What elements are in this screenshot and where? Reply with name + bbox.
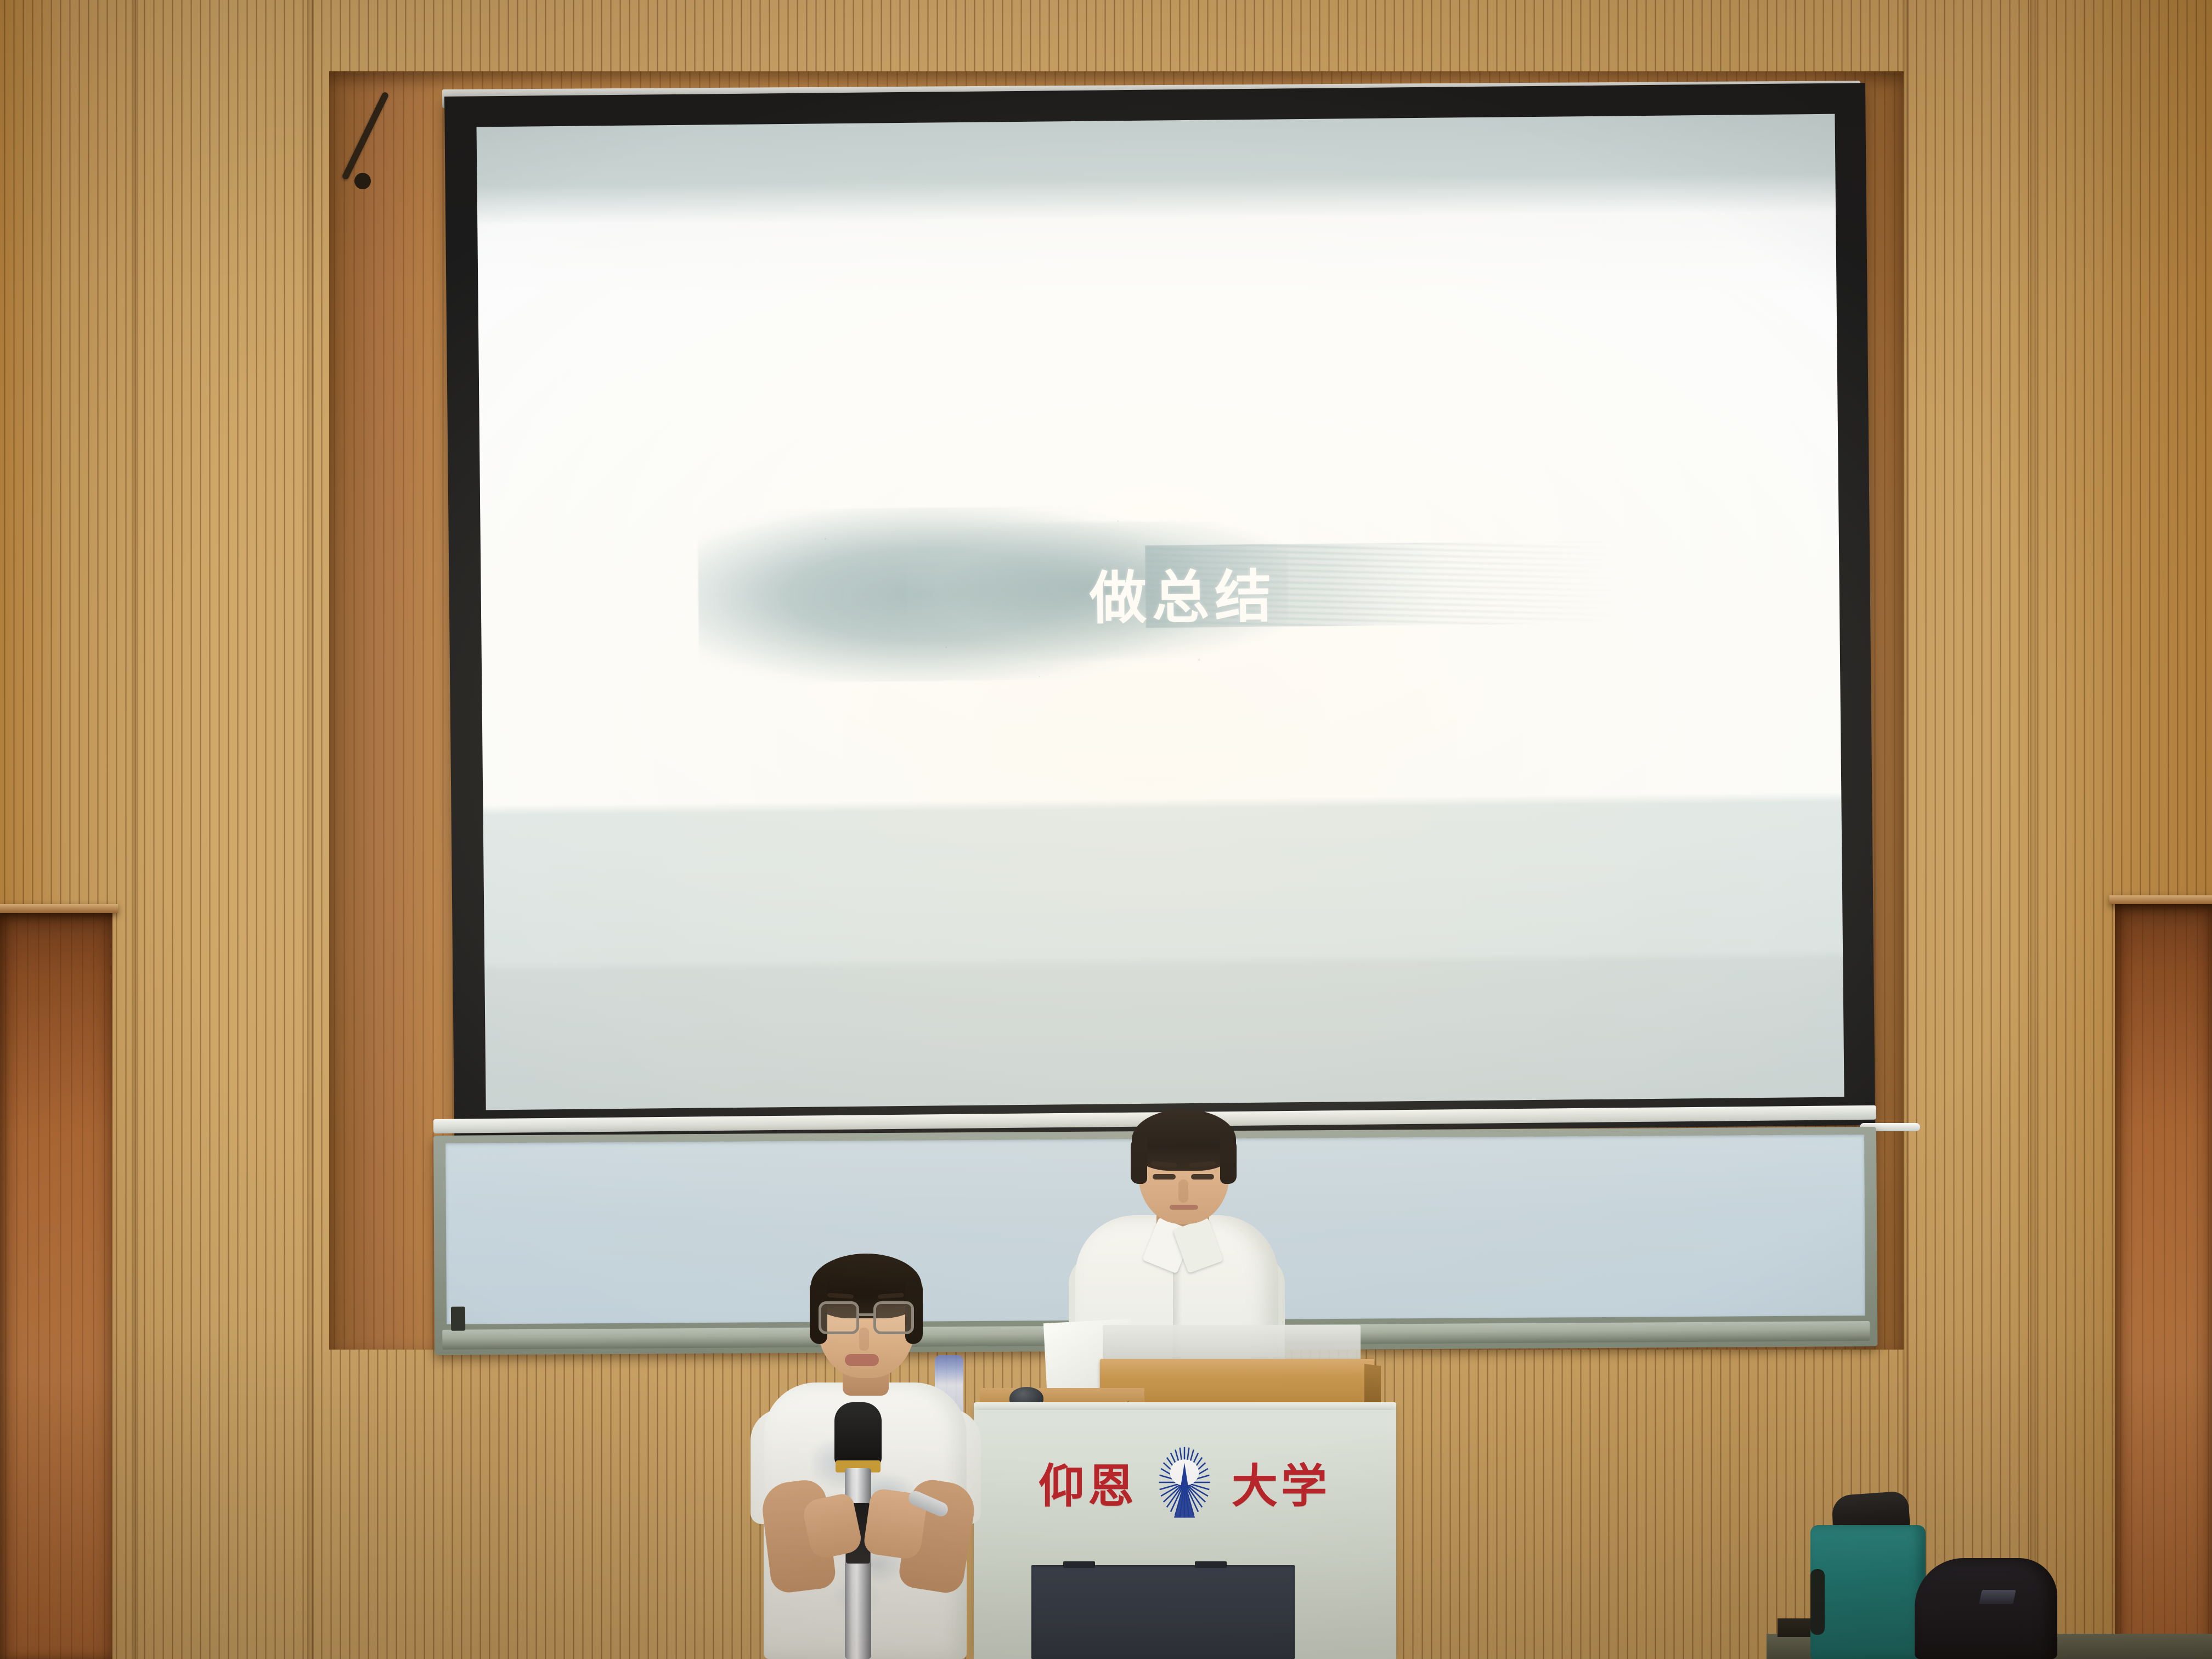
wall-hook-head-icon [354,173,371,189]
panel-latch-right [1195,1561,1227,1568]
university-logo-icon [1152,1442,1217,1523]
panel-latch-left [1063,1561,1095,1568]
wall-alcove-right [2115,900,2212,1659]
backpack-logo-icon [1979,1590,2016,1604]
hair-side-right [1220,1137,1237,1184]
wall-seam [132,0,138,1659]
lens-right [873,1301,914,1334]
podium-equipment-panel[interactable] [1031,1565,1295,1659]
projection-screen: 做总结 [444,83,1875,1139]
ink-brush-graphic: 做总结 [697,489,1650,695]
wall-alcove-left [0,908,112,1659]
lens-left [819,1301,859,1334]
nose [859,1328,869,1351]
black-backpack[interactable] [1915,1558,2057,1659]
nose [1178,1180,1188,1203]
stool-leg-notch [1810,1569,1825,1635]
wall-seam [307,0,314,1659]
podium-front-panel: 仰恩 大学 [981,1422,1388,1543]
university-name-left: 仰恩 [1039,1449,1137,1516]
mouth [1170,1205,1198,1210]
mouth [845,1354,879,1366]
wall-alcove-lip-right [2109,895,2212,904]
whiteboard-clip-icon [451,1307,465,1331]
eye-left [1153,1174,1176,1180]
microphone-head[interactable] [834,1402,882,1467]
laptop-lid[interactable] [1103,1325,1361,1363]
lecture-hall-photo: 做总结 仰 [0,0,2212,1659]
teal-stool[interactable] [1810,1525,1926,1659]
slide: 做总结 [477,114,1844,1110]
slide-title: 做总结 [697,489,1650,695]
projection-surface: 做总结 [477,114,1844,1110]
hair-side-left [1131,1137,1147,1184]
wall-alcove-lip-left [0,904,118,913]
university-name-right: 大学 [1232,1449,1330,1516]
eye-right [1191,1174,1214,1180]
wall-seam [2030,0,2036,1659]
